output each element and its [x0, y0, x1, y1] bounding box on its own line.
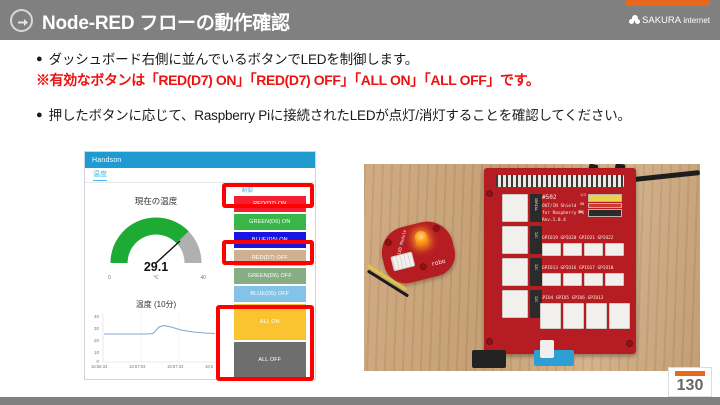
white-cable-connector [540, 340, 554, 358]
dip-switch-black[interactable] [588, 209, 622, 217]
silk-gpio-row-1: GPIO19 GPIO20 GPIO21 GPIO22 [542, 236, 613, 241]
bullet-glyph: ● [36, 106, 43, 124]
grove-connector [605, 243, 624, 256]
sakura-petal-icon [629, 15, 640, 26]
temperature-line-chart: 40 30 20 10 0 16:56:33 16:57:03 16:57:33… [89, 312, 223, 376]
silk-dip-1-2: 1/2 [580, 193, 586, 197]
dashboard-topbar: Handson [85, 152, 315, 168]
grove-connector [540, 303, 561, 329]
silk-line4: Rev.1.0.4 [542, 218, 566, 223]
gpio-header-40pin [496, 175, 624, 187]
grove-connector [542, 243, 561, 256]
brand-text-light: internet [681, 16, 710, 25]
terminal-connector [530, 258, 542, 286]
terminal-block [502, 290, 528, 318]
usb-c-connector [472, 350, 506, 368]
page-number: 130 [677, 376, 704, 396]
dip-switch-yellow[interactable] [588, 194, 622, 202]
chart-x-tick: 16:56:33 [91, 364, 107, 369]
grove-connector [609, 303, 630, 329]
dashboard-left-column: 現在の温度 29.1 0 ℃ 40 温度 (10分) [85, 183, 226, 380]
mount-hole [626, 340, 633, 347]
mount-hole [486, 338, 493, 345]
silk-i2c-1: I2C [534, 232, 538, 239]
gauge-value: 29.1 [110, 260, 202, 274]
footer-bar [0, 397, 720, 405]
silk-serial: SERIAL [534, 198, 538, 211]
chart-y-tick: 10 [89, 350, 99, 355]
grove-connector [563, 303, 584, 329]
grove-connector [586, 303, 607, 329]
page-title: Node-RED フローの動作確認 [42, 8, 290, 35]
hardware-photo: #101 LED Module robo #502 OUT/IN Shield … [364, 164, 700, 371]
button-red-d7-off[interactable]: RED(D7) OFF [234, 250, 306, 266]
brand-text-strong: SAKURA [642, 15, 681, 26]
brand-text: SAKURA internet [642, 15, 710, 26]
button-blue-d5-off[interactable]: BLUE(D5) OFF [234, 286, 306, 302]
grove-connector [563, 243, 582, 256]
chart-x-tick: 16:57:03 [129, 364, 145, 369]
slide-header: Node-RED フローの動作確認 SAKURA internet [0, 0, 720, 40]
page-number-box: 130 [668, 367, 712, 397]
button-green-d6-off[interactable]: GREEN(D6) OFF [234, 268, 306, 284]
terminal-block [502, 258, 528, 286]
chart-title: 温度 (10分) [89, 299, 223, 310]
grove-connector [563, 273, 582, 286]
silk-gpio-row-2: GPIO13 GPIO16 GPIO17 GPIO18 [542, 266, 613, 271]
dashboard-title: Handson [92, 157, 121, 164]
terminal-connector [530, 226, 542, 254]
button-red-d7-on[interactable]: RED(D7) ON [234, 196, 306, 212]
grove-connector [542, 273, 561, 286]
silk-gpio-row-3: GPIO4 GPIO5 GPIO6 GPIO12 [540, 296, 603, 301]
button-all-on[interactable]: ALL ON [234, 304, 306, 340]
chart-card: 温度 (10分) 40 30 20 10 [89, 299, 223, 377]
node-red-dashboard-screenshot: Handson 温度 現在の温度 29.1 0 [84, 151, 316, 380]
grove-connector [584, 243, 603, 256]
arrow-right-circle-icon [10, 9, 33, 32]
warning-text: ※有効なボタンは「RED(D7) ON」「RED(D7) OFF」「ALL ON… [36, 70, 539, 90]
dashboard-tab-row: 温度 [85, 168, 315, 183]
bullet-glyph: ● [36, 50, 43, 68]
silk-line2: OUT/IN Shield [542, 204, 576, 209]
silk-dip-on: ON [580, 202, 584, 206]
gauge-title: 現在の温度 [89, 195, 223, 207]
mount-hole [486, 190, 493, 197]
button-green-d6-on[interactable]: GREEN(D6) ON [234, 214, 306, 230]
mount-hole [384, 238, 392, 246]
page-accent-bar [675, 371, 705, 376]
mount-hole [432, 224, 440, 232]
slide-root: Node-RED フローの動作確認 SAKURA internet ● ダッシュ… [0, 0, 720, 405]
chart-x-tick: 16:5 [205, 364, 213, 369]
silk-part-number: #502 [542, 194, 556, 201]
led-silk-brand: robo [431, 258, 447, 268]
silk-dip-dnc: DNC [578, 210, 584, 214]
temperature-gauge: 29.1 0 ℃ 40 [110, 215, 202, 267]
grove-connector [605, 273, 624, 286]
dashboard-body: 現在の温度 29.1 0 ℃ 40 温度 (10分) [85, 183, 315, 380]
dip-switch-red[interactable] [588, 203, 622, 208]
header-accent-bar [626, 0, 710, 6]
dashboard-control-column: 制御 RED(D7) ON GREEN(D6) ON BLUE(D5) ON R… [226, 183, 315, 380]
led-silk-line1: LED Module [396, 229, 407, 255]
silk-i2c-2: I2C [534, 264, 538, 271]
gauge-card: 現在の温度 29.1 0 ℃ 40 [89, 187, 223, 293]
chart-y-tick: 20 [89, 338, 99, 343]
button-blue-d5-on[interactable]: BLUE(D5) ON [234, 232, 306, 248]
gauge-max-label: 40 [200, 275, 206, 281]
chart-y-tick: 40 [89, 314, 99, 319]
terminal-block [502, 226, 528, 254]
out-in-shield-502: #502 OUT/IN Shield for Raspberry Pi Rev.… [484, 168, 636, 354]
gauge-unit-label: ℃ [110, 275, 202, 281]
sakura-internet-logo: SAKURA internet [629, 15, 710, 26]
silk-i2c-3: I2C [534, 296, 538, 303]
terminal-block [502, 194, 528, 222]
chart-x-tick: 16:57:33 [167, 364, 183, 369]
control-group-label: 制御 [242, 186, 315, 194]
chart-y-tick: 30 [89, 326, 99, 331]
grove-connector [584, 273, 603, 286]
led-lamp-lit [413, 229, 429, 248]
bullet-text-1: ダッシュボード右側に並んでいるボタンでLEDを制御します。 [49, 50, 418, 69]
bullet-item-1: ● ダッシュボード右側に並んでいるボタンでLEDを制御します。 [36, 50, 418, 69]
button-all-off[interactable]: ALL OFF [234, 342, 306, 378]
bullet-text-2: 押したボタンに応じて、Raspberry Piに接続されたLEDが点灯/消灯する… [49, 106, 699, 125]
mount-hole [419, 262, 427, 270]
tab-temperature[interactable]: 温度 [93, 169, 107, 181]
bullet-item-2: ● 押したボタンに応じて、Raspberry Piに接続されたLEDが点灯/消灯… [36, 106, 706, 125]
